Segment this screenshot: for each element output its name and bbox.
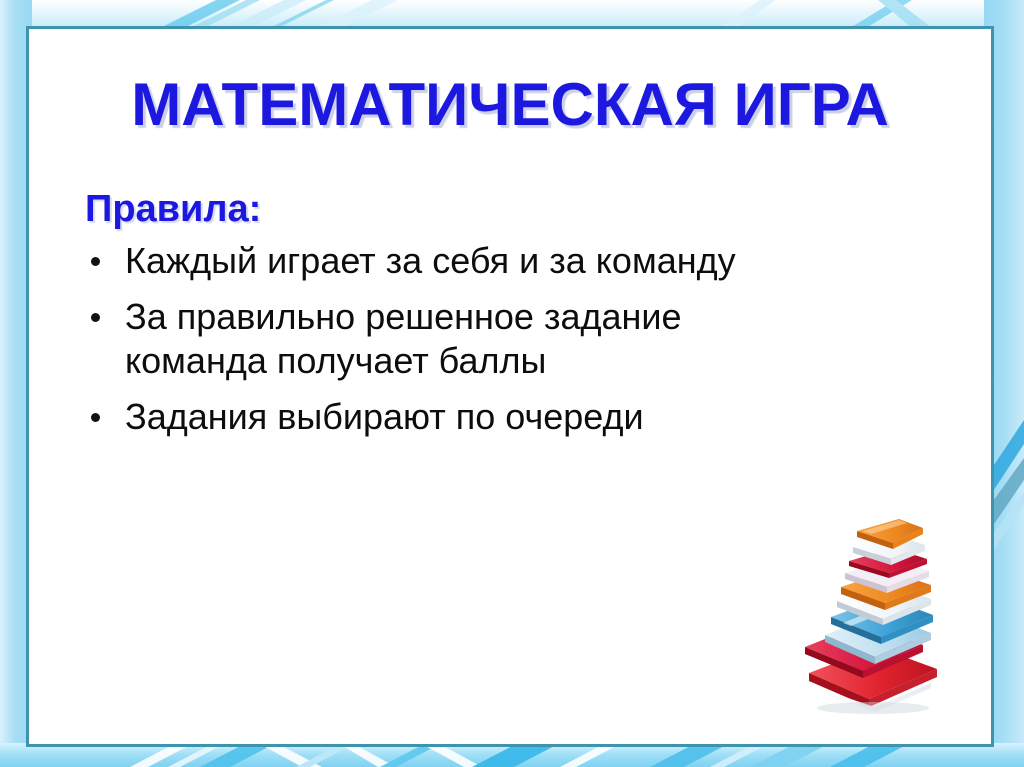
bullet-text-line1: Каждый играет за себя и за команду: [125, 239, 959, 283]
presentation-slide: МАТЕМАТИЧЕСКАЯ ИГРА Правила: Каждый игра…: [0, 0, 1024, 767]
bullet-dot-icon: [91, 413, 100, 422]
slide-title: МАТЕМАТИЧЕСКАЯ ИГРА: [29, 75, 991, 135]
bullet-text-line1: За правильно решенное задание: [125, 295, 959, 339]
bullet-dot-icon: [91, 313, 100, 322]
rules-bullet-list: Каждый играет за себя и за команду За пр…: [59, 239, 959, 439]
list-item: За правильно решенное задание команда по…: [59, 295, 959, 383]
slide-body: Правила: Каждый играет за себя и за кома…: [59, 189, 959, 450]
bullet-dot-icon: [91, 257, 100, 266]
stack-of-books-image: [803, 501, 943, 716]
rules-heading: Правила:: [85, 189, 959, 231]
slide-content-frame: МАТЕМАТИЧЕСКАЯ ИГРА Правила: Каждый игра…: [26, 26, 994, 747]
bullet-text-line1: Задания выбирают по очереди: [125, 395, 959, 439]
bullet-text-line2: команда получает баллы: [125, 339, 959, 383]
list-item: Каждый играет за себя и за команду: [59, 239, 959, 283]
list-item: Задания выбирают по очереди: [59, 395, 959, 439]
